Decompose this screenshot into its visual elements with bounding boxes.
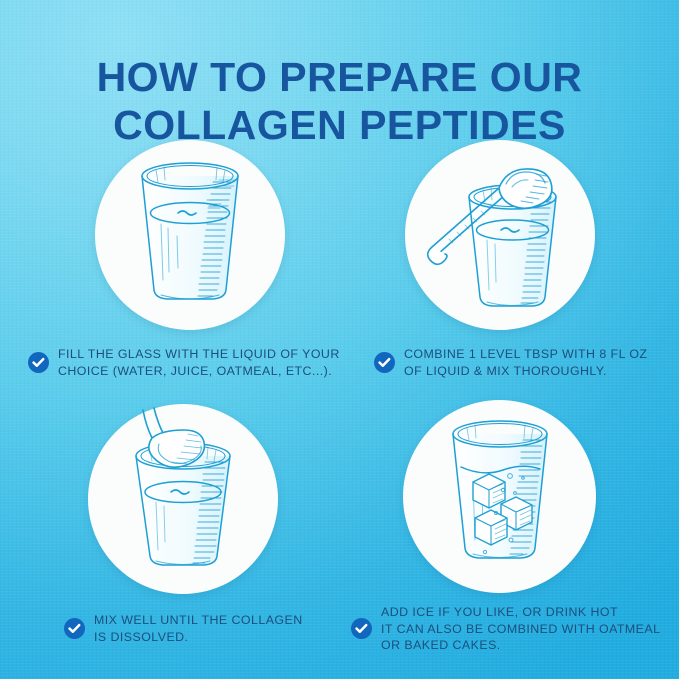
glass-of-liquid-icon bbox=[95, 140, 285, 330]
step-4-caption-text: ADD ICE IF YOU LIKE, OR DRINK HOT IT CAN… bbox=[381, 604, 660, 654]
step-1-circle-backdrop bbox=[95, 140, 285, 330]
check-circle-icon bbox=[64, 618, 85, 639]
scoop-pouring-into-glass-icon bbox=[405, 140, 595, 330]
check-circle-icon bbox=[351, 618, 372, 639]
step-3-caption: MIX WELL UNTIL THE COLLAGEN IS DISSOLVED… bbox=[64, 612, 364, 645]
glass-with-ice-cubes-icon bbox=[403, 400, 596, 593]
step-1-caption: FILL THE GLASS WITH THE LIQUID OF YOUR C… bbox=[28, 346, 358, 379]
step-3-caption-text: MIX WELL UNTIL THE COLLAGEN IS DISSOLVED… bbox=[94, 612, 303, 645]
check-circle-icon bbox=[374, 352, 395, 373]
page-title-line-1: HOW TO PREPARE OUR bbox=[0, 53, 679, 101]
step-3-circle-backdrop bbox=[88, 404, 278, 594]
step-4-caption: ADD ICE IF YOU LIKE, OR DRINK HOT IT CAN… bbox=[351, 604, 671, 654]
check-circle-icon bbox=[28, 352, 49, 373]
step-2-circle-backdrop bbox=[405, 140, 595, 330]
poster-root: HOW TO PREPARE OUR COLLAGEN PEPTIDES bbox=[0, 0, 679, 679]
spoon-stirring-glass-icon bbox=[88, 404, 278, 594]
step-2-caption-text: COMBINE 1 LEVEL TBSP WITH 8 FL OZ OF LIQ… bbox=[404, 346, 647, 379]
step-1-caption-text: FILL THE GLASS WITH THE LIQUID OF YOUR C… bbox=[58, 346, 340, 379]
step-2-caption: COMBINE 1 LEVEL TBSP WITH 8 FL OZ OF LIQ… bbox=[374, 346, 674, 379]
page-title: HOW TO PREPARE OUR COLLAGEN PEPTIDES bbox=[0, 53, 679, 149]
step-4-circle-backdrop bbox=[403, 400, 596, 593]
